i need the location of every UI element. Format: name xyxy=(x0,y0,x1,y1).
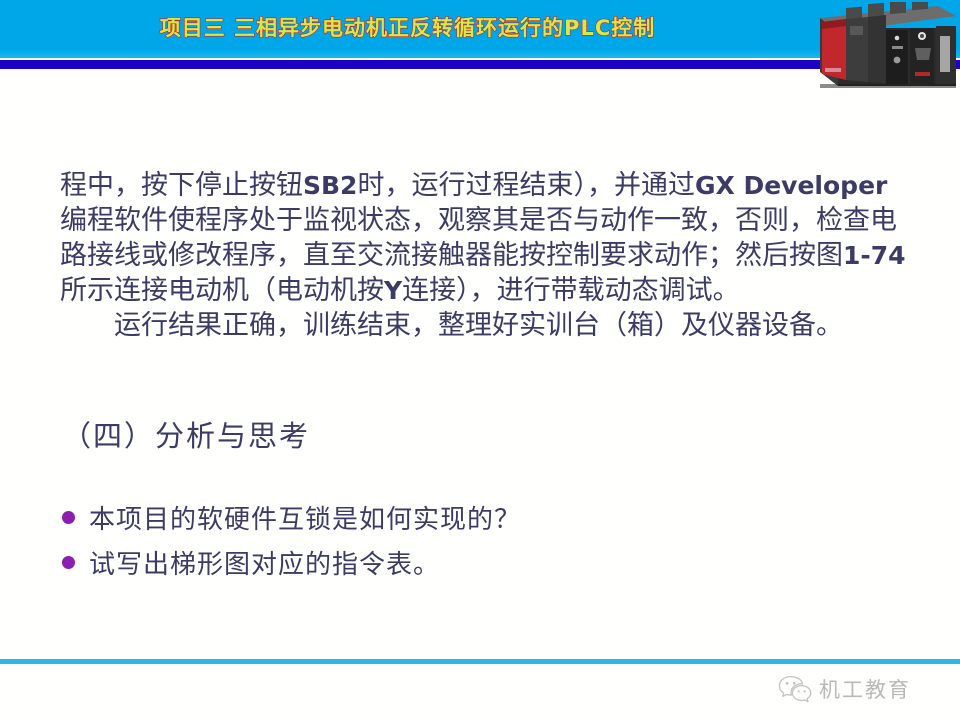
list-item: 本项目的软硬件互锁是如何实现的？ xyxy=(62,495,762,540)
body-line: 运行结果正确，训练结束，整理好实训台（箱）及仪器设备。 xyxy=(60,308,910,343)
body-text: 路接线或修改程序，直至交流接触器能按控制要求动作；然后按图 xyxy=(60,240,843,270)
body-line: 程中，按下停止按钮SB2时，运行过程结束），并通过GX Developer xyxy=(60,168,910,203)
body-emphasis: Y xyxy=(384,276,402,305)
bullet-dot-icon xyxy=(62,556,75,569)
body-text: 运行结果正确，训练结束，整理好实训台（箱）及仪器设备。 xyxy=(114,310,843,340)
body-emphasis: SB2 xyxy=(303,171,357,200)
body-text: 连接），进行带载动态调试。 xyxy=(402,275,740,305)
list-item-label: 试写出梯形图对应的指令表。 xyxy=(89,544,440,581)
footer-rule xyxy=(0,659,960,664)
body-text: 所示连接电动机（电动机按 xyxy=(60,275,384,305)
bullet-list: 本项目的软硬件互锁是如何实现的？ 试写出梯形图对应的指令表。 xyxy=(62,495,762,585)
wechat-icon xyxy=(778,675,812,703)
footer-brand: 机工教育 xyxy=(778,672,911,706)
body-paragraph: 程中，按下停止按钮SB2时，运行过程结束），并通过GX Developer 编程… xyxy=(60,168,910,343)
body-line: 所示连接电动机（电动机按Y连接），进行带载动态调试。 xyxy=(60,273,910,308)
body-text: 时，运行过程结束），并通过 xyxy=(357,170,695,200)
body-line: 编程软件使程序处于监视状态，观察其是否与动作一致，否则，检查电 xyxy=(60,203,910,238)
slide-canvas: 项目三 三相异步电动机正反转循环运行的PLC控制 xyxy=(0,0,960,720)
body-emphasis: 1-74 xyxy=(843,241,906,270)
list-item: 试写出梯形图对应的指令表。 xyxy=(62,540,762,585)
footer-brand-label: 机工教育 xyxy=(819,674,911,704)
section-heading: （四）分析与思考 xyxy=(62,413,310,455)
bullet-dot-icon xyxy=(62,511,75,524)
page-title: 项目三 三相异步电动机正反转循环运行的PLC控制 xyxy=(0,12,815,42)
body-emphasis: GX Developer xyxy=(695,171,887,200)
body-line: 路接线或修改程序，直至交流接触器能按控制要求动作；然后按图1-74 xyxy=(60,238,910,273)
body-text: 程中，按下停止按钮 xyxy=(60,170,303,200)
body-text: 编程软件使程序处于监视状态，观察其是否与动作一致，否则，检查电 xyxy=(60,205,897,235)
plc-rack-photo xyxy=(812,2,958,92)
list-item-label: 本项目的软硬件互锁是如何实现的？ xyxy=(89,499,521,536)
